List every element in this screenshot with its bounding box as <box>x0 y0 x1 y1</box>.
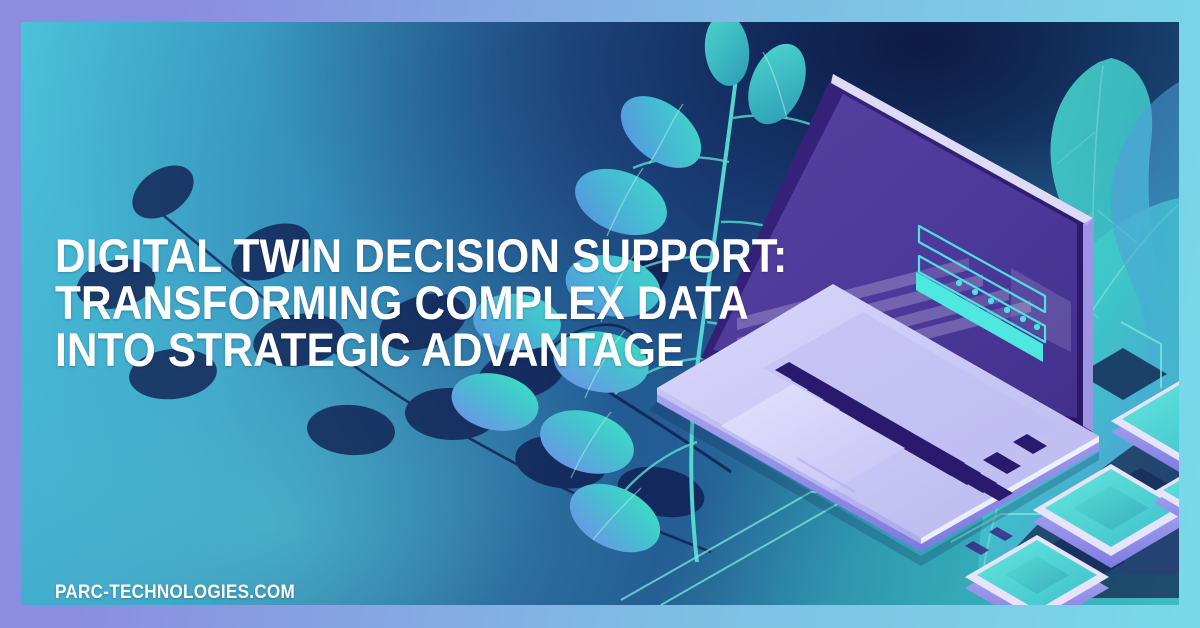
headline-line-2: Transforming Complex Data <box>55 279 631 326</box>
headline-line-3: Into Strategic Advantage <box>55 326 631 373</box>
banner-artboard: Digital Twin Decision Support: Transform… <box>21 22 1179 605</box>
page-title: Digital Twin Decision Support: Transform… <box>55 232 631 373</box>
headline-line-1: Digital Twin Decision Support: <box>55 232 631 279</box>
social-banner: Digital Twin Decision Support: Transform… <box>0 0 1200 628</box>
site-url: PARC-TECHNOLOGIES.COM <box>55 582 295 604</box>
